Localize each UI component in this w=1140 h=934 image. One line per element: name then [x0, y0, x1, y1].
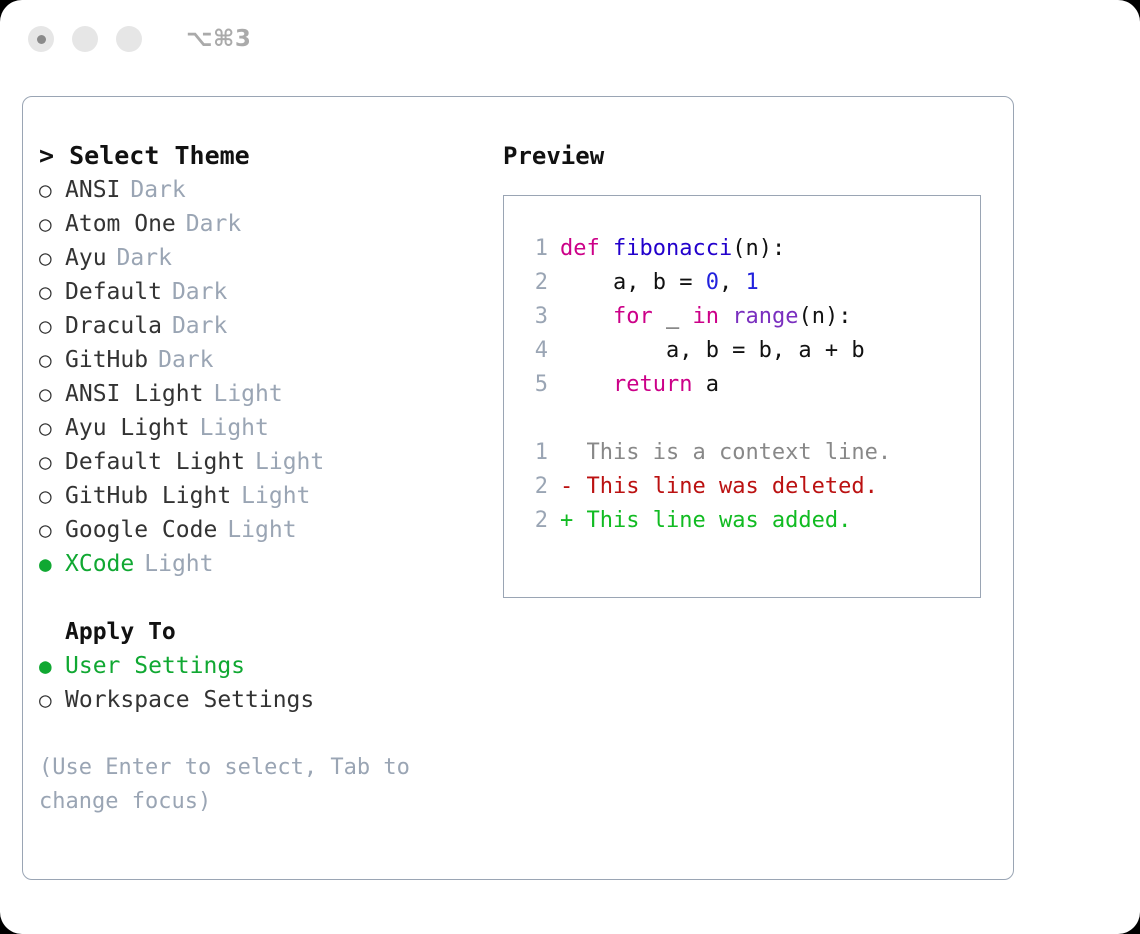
- code-line: 1def fibonacci(n):: [518, 232, 980, 266]
- code-token-num: 1: [745, 270, 758, 295]
- code-line-number: 4: [518, 334, 548, 368]
- theme-option-label: ANSI Light: [65, 377, 203, 411]
- theme-option-label: GitHub Light: [65, 479, 231, 513]
- apply-option-label: Workspace Settings: [65, 683, 314, 717]
- code-token-fn: fibonacci: [613, 236, 732, 261]
- apply-option-label: User Settings: [65, 649, 245, 683]
- apply-option-workspace-settings[interactable]: ○Workspace Settings: [39, 683, 493, 717]
- radio-unselected-icon: ○: [39, 275, 65, 309]
- code-line-number: 3: [518, 300, 548, 334]
- code-token-plain: [560, 304, 613, 329]
- radio-unselected-icon: ○: [39, 309, 65, 343]
- code-line: 3 for _ in range(n):: [518, 300, 980, 334]
- theme-option-label: Default Light: [65, 445, 245, 479]
- theme-option-list[interactable]: ○ANSIDark○Atom OneDark○AyuDark○DefaultDa…: [39, 173, 493, 581]
- code-token-punct: (n):: [732, 236, 785, 261]
- diff-line-del: 2- This line was deleted.: [518, 470, 980, 504]
- apply-to-heading: Apply To: [39, 615, 493, 649]
- apply-to-option-list[interactable]: ●User Settings○Workspace Settings: [39, 649, 493, 717]
- diff-line-text: This line was added.: [587, 504, 852, 538]
- theme-variant-tag: Light: [227, 513, 296, 547]
- theme-option-label: Google Code: [65, 513, 217, 547]
- code-preview-box: 1def fibonacci(n):2 a, b = 0, 13 for _ i…: [503, 195, 981, 598]
- theme-option-ansi-light[interactable]: ○ANSI LightLight: [39, 377, 493, 411]
- window-button-1[interactable]: [28, 26, 54, 52]
- code-token-plain: _: [653, 304, 693, 329]
- code-token-plain: a, b =: [560, 270, 706, 295]
- theme-option-xcode[interactable]: ●XCodeLight: [39, 547, 493, 581]
- code-sample: 1def fibonacci(n):2 a, b = 0, 13 for _ i…: [518, 232, 980, 402]
- theme-variant-tag: Dark: [172, 275, 227, 309]
- theme-variant-tag: Light: [213, 377, 282, 411]
- code-line-content: for _ in range(n):: [560, 300, 851, 334]
- code-line-content: return a: [560, 368, 719, 402]
- theme-variant-tag: Dark: [158, 343, 213, 377]
- theme-option-ayu-light[interactable]: ○Ayu LightLight: [39, 411, 493, 445]
- diff-marker-del: -: [560, 470, 587, 504]
- keyboard-shortcut-label: ⌥⌘3: [186, 26, 251, 52]
- diff-marker-add: +: [560, 504, 587, 538]
- diff-line-add: 2+ This line was added.: [518, 504, 980, 538]
- keyboard-hint-text: (Use Enter to select, Tab to change focu…: [39, 751, 439, 819]
- code-line-content: a, b = 0, 1: [560, 266, 759, 300]
- app-window: ⌥⌘3 > Select Theme ○ANSIDark○Atom OneDar…: [0, 0, 1140, 934]
- code-token-kw: in: [692, 304, 719, 329]
- code-token-kw: for: [613, 304, 653, 329]
- diff-sample: 1 This is a context line.2- This line wa…: [518, 436, 980, 538]
- code-line-number: 5: [518, 368, 548, 402]
- radio-unselected-icon: ○: [39, 343, 65, 377]
- theme-option-default-light[interactable]: ○Default LightLight: [39, 445, 493, 479]
- list-spacer: [39, 581, 493, 615]
- theme-option-label: Default: [65, 275, 162, 309]
- code-token-punct: ,: [719, 270, 746, 295]
- preview-column: Preview 1def fibonacci(n):2 a, b = 0, 13…: [493, 139, 1013, 879]
- theme-option-github-light[interactable]: ○GitHub LightLight: [39, 479, 493, 513]
- code-token-plain: [719, 304, 732, 329]
- code-token-kw: return: [613, 372, 692, 397]
- radio-unselected-icon: ○: [39, 479, 65, 513]
- diff-marker-ctx: [560, 436, 587, 470]
- code-line: 4 a, b = b, a + b: [518, 334, 980, 368]
- code-line-content: def fibonacci(n):: [560, 232, 785, 266]
- window-button-2[interactable]: [72, 26, 98, 52]
- theme-option-dracula[interactable]: ○DraculaDark: [39, 309, 493, 343]
- preview-heading: Preview: [503, 139, 1013, 173]
- theme-option-label: GitHub: [65, 343, 148, 377]
- theme-option-default[interactable]: ○DefaultDark: [39, 275, 493, 309]
- theme-option-ayu[interactable]: ○AyuDark: [39, 241, 493, 275]
- code-token-plain: a: [692, 372, 719, 397]
- radio-unselected-icon: ○: [39, 683, 65, 717]
- code-line-content: a, b = b, a + b: [560, 334, 865, 368]
- window-controls: [28, 26, 142, 52]
- theme-picker-panel: > Select Theme ○ANSIDark○Atom OneDark○Ay…: [22, 96, 1014, 880]
- theme-variant-tag: Dark: [186, 207, 241, 241]
- theme-selection-column: > Select Theme ○ANSIDark○Atom OneDark○Ay…: [23, 139, 493, 879]
- diff-line-text: This line was deleted.: [587, 470, 878, 504]
- radio-unselected-icon: ○: [39, 377, 65, 411]
- diff-line-number: 2: [518, 504, 548, 538]
- window-button-3[interactable]: [116, 26, 142, 52]
- diff-line-ctx: 1 This is a context line.: [518, 436, 980, 470]
- apply-option-user-settings[interactable]: ●User Settings: [39, 649, 493, 683]
- theme-option-label: XCode: [65, 547, 134, 581]
- radio-selected-icon: ●: [39, 649, 65, 683]
- diff-line-number: 1: [518, 436, 548, 470]
- code-line-number: 1: [518, 232, 548, 266]
- radio-unselected-icon: ○: [39, 207, 65, 241]
- theme-option-atom-one[interactable]: ○Atom OneDark: [39, 207, 493, 241]
- theme-variant-tag: Light: [200, 411, 269, 445]
- code-diff-separator: [518, 402, 980, 436]
- code-token-kw: def: [560, 236, 613, 261]
- radio-unselected-icon: ○: [39, 445, 65, 479]
- radio-unselected-icon: ○: [39, 173, 65, 207]
- theme-option-label: Ayu: [65, 241, 107, 275]
- code-token-num: 0: [706, 270, 719, 295]
- theme-variant-tag: Light: [241, 479, 310, 513]
- theme-variant-tag: Dark: [117, 241, 172, 275]
- theme-option-label: Ayu Light: [65, 411, 190, 445]
- select-theme-heading: > Select Theme: [39, 139, 493, 173]
- theme-option-label: ANSI: [65, 173, 120, 207]
- theme-option-ansi[interactable]: ○ANSIDark: [39, 173, 493, 207]
- theme-variant-tag: Dark: [130, 173, 185, 207]
- diff-line-number: 2: [518, 470, 548, 504]
- code-line: 5 return a: [518, 368, 980, 402]
- theme-option-github[interactable]: ○GitHubDark: [39, 343, 493, 377]
- radio-unselected-icon: ○: [39, 241, 65, 275]
- title-bar: ⌥⌘3: [0, 0, 1140, 78]
- theme-option-label: Atom One: [65, 207, 176, 241]
- theme-variant-tag: Light: [144, 547, 213, 581]
- theme-option-label: Dracula: [65, 309, 162, 343]
- radio-unselected-icon: ○: [39, 513, 65, 547]
- theme-variant-tag: Dark: [172, 309, 227, 343]
- code-line-number: 2: [518, 266, 548, 300]
- code-token-plain: a, b = b, a + b: [560, 338, 865, 363]
- radio-unselected-icon: ○: [39, 411, 65, 445]
- radio-selected-icon: ●: [39, 547, 65, 581]
- code-token-call: range: [732, 304, 798, 329]
- theme-option-google-code[interactable]: ○Google CodeLight: [39, 513, 493, 547]
- code-token-punct: (n):: [798, 304, 851, 329]
- code-token-plain: [560, 372, 613, 397]
- theme-variant-tag: Light: [255, 445, 324, 479]
- diff-line-text: This is a context line.: [587, 436, 892, 470]
- code-line: 2 a, b = 0, 1: [518, 266, 980, 300]
